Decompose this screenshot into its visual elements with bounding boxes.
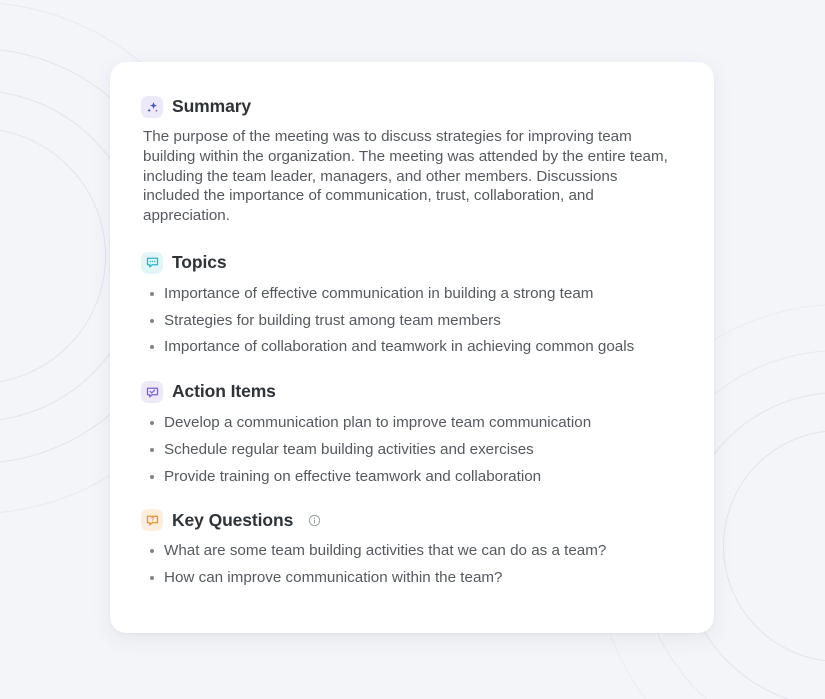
info-circle-icon[interactable] [308,514,321,527]
section-key-questions: ? Key Questions What are some team build… [141,509,684,588]
list-item: Provide training on effective teamwork a… [141,467,682,487]
list-item: Importance of effective communication in… [141,284,682,304]
section-title-key-questions: Key Questions [172,512,293,530]
section-topics: Topics Importance of effective communica… [141,252,684,357]
section-summary: Summary The purpose of the meeting was t… [141,96,684,226]
section-header-key-questions: ? Key Questions [141,509,684,531]
list-item: What are some team building activities t… [141,541,682,561]
summary-paragraph: The purpose of the meeting was to discus… [143,127,668,226]
section-header-action-items: Action Items [141,381,684,403]
section-title-topics: Topics [172,254,227,272]
decor-ring [723,430,825,662]
list-item: Importance of collaboration and teamwork… [141,337,682,357]
meeting-notes-card: Summary The purpose of the meeting was t… [110,62,714,633]
list-item: How can improve communication within the… [141,568,682,588]
section-action-items: Action Items Develop a communication pla… [141,381,684,486]
section-header-topics: Topics [141,252,684,274]
list-item: Schedule regular team building activitie… [141,440,682,460]
section-header-summary: Summary [141,96,684,118]
speech-bubble-check-icon [141,381,163,403]
section-title-action-items: Action Items [172,383,276,401]
list-item: Develop a communication plan to improve … [141,413,682,433]
svg-text:?: ? [150,517,154,523]
section-title-summary: Summary [172,98,251,116]
action-items-list: Develop a communication plan to improve … [141,413,684,486]
sparkle-icon [141,96,163,118]
speech-bubble-question-icon: ? [141,509,163,531]
decor-ring [0,128,106,384]
list-item: Strategies for building trust among team… [141,311,682,331]
topics-list: Importance of effective communication in… [141,284,684,357]
key-questions-list: What are some team building activities t… [141,541,684,588]
speech-bubble-dots-icon [141,252,163,274]
